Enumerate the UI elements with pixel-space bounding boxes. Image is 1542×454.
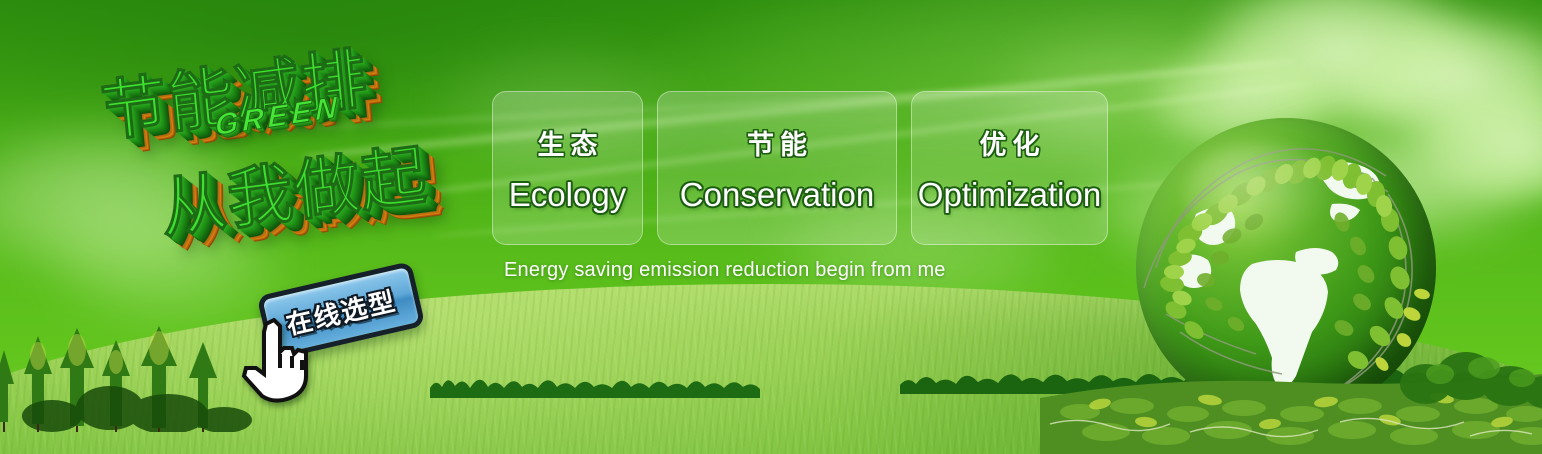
globe-highlight	[1184, 142, 1340, 250]
feature-card-optimization[interactable]: 优化 Optimization	[911, 91, 1108, 245]
globe-sphere	[1136, 118, 1436, 418]
feature-card-title-en: Optimization	[918, 176, 1101, 214]
tagline-text: Energy saving emission reduction begin f…	[504, 259, 946, 282]
feature-card-title-cn: 生态	[532, 123, 604, 162]
feature-card-conservation[interactable]: 节能 Conservation	[657, 91, 897, 245]
feature-card-ecology[interactable]: 生态 Ecology	[492, 91, 643, 245]
online-selection-button-label: 在线选型	[282, 280, 399, 341]
eco-promo-banner: 节能减排 GREEN 从我做起 在线选型 生态 Ecology 节能 Conse…	[0, 0, 1542, 454]
headline-3d: 节能减排 GREEN 从我做起	[90, 17, 510, 284]
leafy-globe-icon	[1136, 118, 1436, 418]
feature-card-title-cn: 节能	[741, 123, 813, 162]
feature-card-list: 生态 Ecology 节能 Conservation 优化 Optimizati…	[492, 91, 1108, 245]
feature-card-title-cn: 优化	[974, 123, 1046, 162]
feature-card-title-en: Conservation	[680, 176, 874, 214]
feature-card-title-en: Ecology	[509, 176, 626, 214]
